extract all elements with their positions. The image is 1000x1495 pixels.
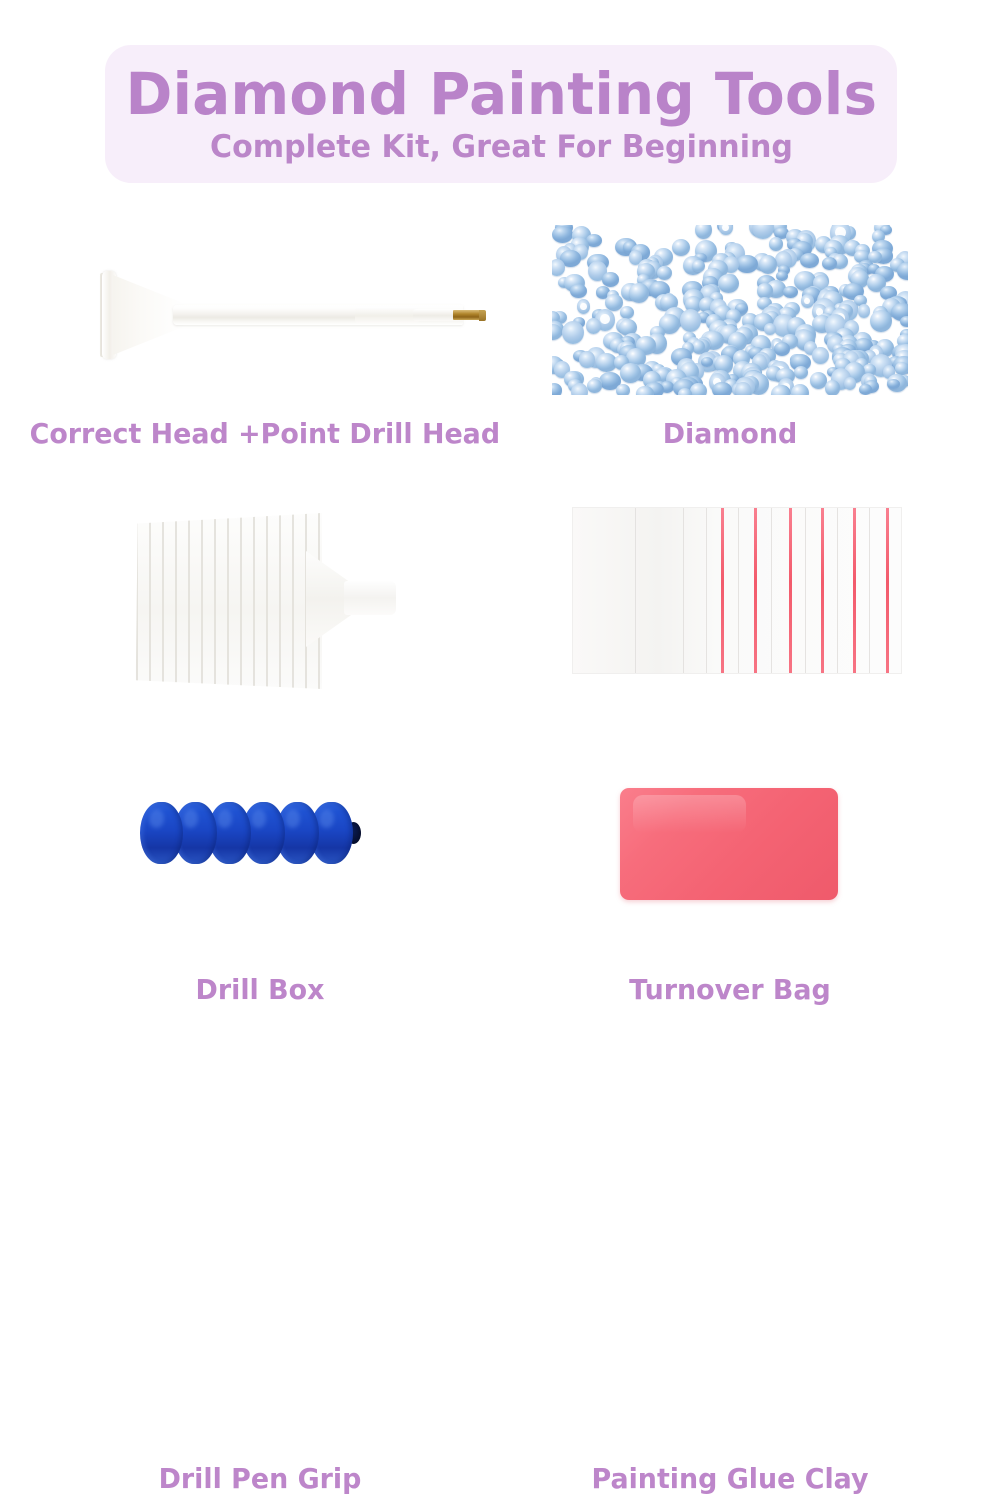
bag-fold-line xyxy=(706,508,707,673)
page-subtitle: Complete Kit, Great For Beginning xyxy=(210,130,793,164)
bag-fold-line xyxy=(635,508,636,673)
bag-fold-line xyxy=(771,508,772,673)
bag-fold-line xyxy=(869,508,870,673)
diamond-drill xyxy=(620,363,641,383)
drill-box-handle xyxy=(344,581,396,615)
diamond-drill xyxy=(657,266,672,280)
diamond-drill xyxy=(858,304,871,318)
diamond-drill xyxy=(752,225,774,239)
product-label-turnover-bag: Turnover Bag xyxy=(519,973,941,1006)
drill-pen-grip-photo xyxy=(140,798,380,888)
diamond-drill xyxy=(562,321,584,344)
pen-barrel-segment xyxy=(355,307,419,323)
product-grid: Correct Head +Point Drill Head Diamond D… xyxy=(0,205,1000,1000)
diamond-drill xyxy=(579,351,594,367)
diamond-drill xyxy=(690,383,707,395)
painting-glue-clay-photo xyxy=(620,788,838,900)
grip-rib xyxy=(140,802,183,864)
drill-box-grooves xyxy=(130,513,322,689)
diamond-drill xyxy=(870,310,892,332)
diamond-drill xyxy=(552,226,573,243)
bag-fold-line xyxy=(683,508,684,673)
diamond-drill xyxy=(672,239,690,256)
diamond-drill xyxy=(822,257,837,270)
diamond-drill xyxy=(620,306,635,319)
diamond-drill xyxy=(629,283,650,303)
diamond-drill xyxy=(825,380,840,395)
bag-red-stripe xyxy=(821,508,824,673)
diamond-drill xyxy=(718,274,739,293)
diamond-drill xyxy=(769,237,783,250)
diamond-drill xyxy=(719,225,733,235)
diamond-drill xyxy=(897,262,908,280)
diamond-drill xyxy=(577,299,590,313)
header-banner: Diamond Painting Tools Complete Kit, Gre… xyxy=(105,45,897,183)
bag-red-stripe xyxy=(721,508,724,673)
diamond-drill xyxy=(586,318,601,334)
bag-red-stripe xyxy=(853,508,856,673)
diamond-drill xyxy=(695,225,713,239)
diamond-drill xyxy=(678,388,692,395)
page-title: Diamond Painting Tools xyxy=(125,64,877,124)
diamond-drill xyxy=(812,347,829,365)
diamond-drill xyxy=(692,260,705,273)
diamond-drill xyxy=(736,255,757,273)
diamond-drill xyxy=(859,384,872,395)
diamond-drill xyxy=(774,342,791,356)
glue-clay-block xyxy=(620,788,838,900)
bag-fold-line xyxy=(738,508,739,673)
bag-body xyxy=(573,508,901,673)
diamond-drill xyxy=(552,383,562,395)
pen-tip-cap xyxy=(479,310,486,321)
diamond-drill xyxy=(680,309,701,332)
product-label-diamond: Diamond xyxy=(519,417,941,450)
diamond-drill xyxy=(783,286,798,299)
diamond-drill xyxy=(764,323,776,336)
diamond-drill xyxy=(587,379,602,393)
diamond-drill xyxy=(759,255,777,273)
glue-clay-sheen xyxy=(633,795,746,833)
drill-box-photo xyxy=(130,505,390,695)
diamond-drill xyxy=(844,377,856,390)
diamond-drill xyxy=(571,383,589,395)
bag-red-stripe xyxy=(789,508,792,673)
product-label-painting-glue-clay: Painting Glue Clay xyxy=(519,1462,941,1495)
product-label-correct-head-point-drill-head: Correct Head +Point Drill Head xyxy=(30,417,491,450)
diamond-drill xyxy=(712,382,732,395)
bag-fold-line xyxy=(805,508,806,673)
diamond-drill xyxy=(602,272,619,287)
bag-fold-line xyxy=(837,508,838,673)
bag-red-stripe xyxy=(754,508,757,673)
diamond-drill xyxy=(900,316,908,328)
diamond-drill xyxy=(800,253,819,269)
product-label-drill-box: Drill Box xyxy=(30,973,491,1006)
drill-pen-photo xyxy=(55,267,485,367)
diamond-drills-photo xyxy=(552,225,908,395)
turnover-bag-photo xyxy=(572,507,902,674)
diamond-drill xyxy=(636,386,653,395)
diamond-drill xyxy=(801,294,814,308)
diamond-drill xyxy=(735,382,751,396)
bag-red-stripe xyxy=(886,508,889,673)
diamond-drill xyxy=(570,284,587,298)
product-label-drill-pen-grip: Drill Pen Grip xyxy=(30,1462,491,1495)
diamond-drill xyxy=(616,384,630,395)
diamond-drill xyxy=(552,259,565,276)
diamond-drill xyxy=(794,366,808,379)
diamond-drill xyxy=(791,384,809,395)
